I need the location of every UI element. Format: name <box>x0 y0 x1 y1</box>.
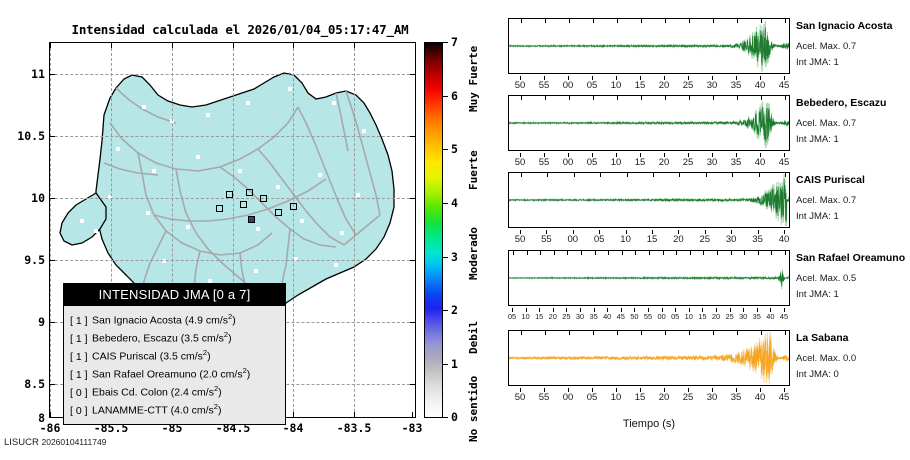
map-tick-top <box>172 43 173 48</box>
legend-accel: (4.0 cm/s <box>171 405 214 417</box>
plot-top-tick <box>785 251 786 255</box>
axis-tick-label: 40 <box>749 392 771 403</box>
axis-tick-label: 30 <box>701 157 723 168</box>
map-tick-left <box>50 384 55 385</box>
map-gridline-horizontal <box>50 260 415 261</box>
plot-top-tick <box>595 251 596 255</box>
axis-tick-label: 05 <box>581 80 603 91</box>
plot-top-tick <box>617 96 618 100</box>
plot-top-tick <box>744 251 745 255</box>
waveform-axis: 5055000510152025303540 <box>508 230 790 248</box>
legend-station: Ebais Cd. Colon <box>92 387 168 399</box>
legend-row: [ 1 ]Bebedero, Escazu (3.5 cm/s2) <box>70 328 280 346</box>
plot-top-tick <box>732 173 733 177</box>
map-tick-top <box>354 43 355 48</box>
colorbar-value: 6 <box>451 89 458 103</box>
lon-tick-label: -83 <box>384 421 440 435</box>
map-tick-right <box>410 74 415 75</box>
map-tick-right <box>410 198 415 199</box>
legend-row: [ 1 ]San Rafael Oreamuno (2.0 cm/s2) <box>70 364 280 382</box>
colorbar-tick <box>443 257 448 258</box>
plot-top-tick <box>737 19 738 23</box>
plot-top-tick <box>540 251 541 255</box>
lat-tick-label: 9 <box>38 315 45 329</box>
axis-tick-label: 45 <box>773 392 795 403</box>
plot-top-tick <box>617 331 618 335</box>
plot-top-tick <box>545 331 546 335</box>
plot-top-tick <box>759 173 760 177</box>
map-tick-bottom <box>50 412 51 417</box>
plot-top-tick <box>703 251 704 255</box>
map-gridline-horizontal <box>50 74 415 75</box>
axis-tick-label: 10 <box>605 157 627 168</box>
plot-top-tick <box>608 251 609 255</box>
colorbar-value: 1 <box>451 357 458 371</box>
colorbar-value: 4 <box>451 196 458 210</box>
colorbar-value: 5 <box>451 142 458 156</box>
plot-top-tick <box>713 19 714 23</box>
legend-accel: (2.4 cm/s <box>171 387 214 399</box>
legend-accel: (3.5 cm/s <box>181 333 224 345</box>
plot-top-tick <box>737 331 738 335</box>
station-name[interactable]: Bebedero, Escazu <box>796 97 886 109</box>
plot-top-tick <box>574 173 575 177</box>
plot-top-tick <box>569 331 570 335</box>
station-intensity: Int JMA: 1 <box>796 134 839 145</box>
waveform-plot[interactable] <box>508 330 790 386</box>
axis-tick-label: 40 <box>773 234 795 245</box>
source-code: 20260104111749 <box>41 437 106 447</box>
axis-tick-label: 35 <box>725 80 747 91</box>
plot-top-tick <box>706 173 707 177</box>
map-panel: Intensidad calculada el 2026/01/04_05:17… <box>0 0 500 460</box>
map-tick-left <box>50 322 55 323</box>
legend-intensity: [ 1 ] <box>70 315 92 329</box>
plot-top-tick <box>641 96 642 100</box>
legend-paren: ) <box>207 351 211 363</box>
plot-top-tick <box>653 173 654 177</box>
plot-top-tick <box>758 251 759 255</box>
plot-top-tick <box>593 331 594 335</box>
waveform-plot[interactable] <box>508 18 790 74</box>
axis-tick-label: 45 <box>773 157 795 168</box>
axis-tick-label: 45 <box>773 312 795 321</box>
axis-tick-label: 25 <box>677 80 699 91</box>
map-tick-right <box>410 384 415 385</box>
plot-top-tick <box>513 251 514 255</box>
station-intensity: Int JMA: 1 <box>796 289 839 300</box>
plot-top-tick <box>679 173 680 177</box>
colorbar-value: 3 <box>451 250 458 264</box>
plot-top-tick <box>665 19 666 23</box>
axis-tick-label: 15 <box>641 234 663 245</box>
axis-tick-label: 45 <box>773 80 795 91</box>
axis-tick-label: 20 <box>653 157 675 168</box>
plot-top-tick <box>689 96 690 100</box>
waveform-plot[interactable] <box>508 250 790 306</box>
lat-tick-label: 10.5 <box>17 129 45 143</box>
plot-top-tick <box>554 251 555 255</box>
station-accel: Acel. Max. 0.5 <box>796 273 856 284</box>
legend-intensity: [ 1 ] <box>70 333 92 347</box>
axis-tick-label: 50 <box>509 234 531 245</box>
colorbar-gradient <box>424 42 443 418</box>
lat-tick-label: 11 <box>31 67 45 81</box>
axis-tick-label: 15 <box>629 80 651 91</box>
axis-tick-label: 20 <box>653 80 675 91</box>
axis-tick-label: 25 <box>677 157 699 168</box>
axis-tick-label: 50 <box>509 80 531 91</box>
legend-list: [ 1 ]San Ignacio Acosta (4.9 cm/s2) [ 1 … <box>64 306 285 424</box>
legend-row: [ 0 ]LANAMME-CTT (4.0 cm/s2) <box>70 400 280 418</box>
legend-accel: (4.9 cm/s <box>185 315 228 327</box>
station-intensity: Int JMA: 0 <box>796 369 839 380</box>
plot-top-tick <box>690 251 691 255</box>
plot-top-tick <box>547 173 548 177</box>
legend-station: LANAMME-CTT <box>92 405 168 417</box>
colorbar-category: Muy Fuerte <box>467 46 480 112</box>
axis-tick-label: 40 <box>749 80 771 91</box>
waveform-axis: 505500051015202530354045 <box>508 153 790 171</box>
map-gridline-vertical <box>50 43 51 417</box>
plot-top-tick <box>569 19 570 23</box>
lat-tick-label: 10 <box>31 191 45 205</box>
waveform-axis: 505500051015202530354045 <box>508 76 790 94</box>
map-gridline-horizontal <box>50 136 415 137</box>
plot-top-tick <box>689 331 690 335</box>
plot-top-tick <box>771 251 772 255</box>
station-name[interactable]: San Rafael Oreamuno <box>796 252 905 264</box>
waveform-trace <box>509 251 789 305</box>
station-marker[interactable] <box>226 191 233 198</box>
map-tick-right <box>410 322 415 323</box>
legend-accel: (3.5 cm/s <box>160 351 203 363</box>
axis-tick-label: 30 <box>720 234 742 245</box>
plot-top-tick <box>521 19 522 23</box>
plot-top-tick <box>600 173 601 177</box>
intensity-colorbar: 7 6 5 4 3 2 1 0 Muy Fuerte Fuerte Modera… <box>424 42 494 418</box>
axis-tick-label: 40 <box>749 157 771 168</box>
map-tick-bottom <box>412 412 413 417</box>
legend-accel: (2.0 cm/s <box>199 369 242 381</box>
colorbar-value: 2 <box>451 303 458 317</box>
map-tick-top <box>50 43 51 48</box>
intensity-legend: INTENSIDAD JMA [0 a 7] [ 1 ]San Ignacio … <box>63 283 286 425</box>
station-marker[interactable] <box>275 209 282 216</box>
plot-top-tick <box>649 251 650 255</box>
map-tick-left <box>50 136 55 137</box>
colorbar-category: No sentido <box>467 376 480 442</box>
plot-top-tick <box>761 96 762 100</box>
source-tag: LISUCR 20260104111749 <box>4 437 106 448</box>
plot-top-tick <box>622 251 623 255</box>
plot-top-tick <box>641 19 642 23</box>
map-tick-top <box>111 43 112 48</box>
axis-tick-label: 10 <box>605 392 627 403</box>
plot-top-tick <box>567 251 568 255</box>
axis-tick-label: 35 <box>725 157 747 168</box>
legend-row: [ 0 ]Ebais Cd. Colon (2.4 cm/s2) <box>70 382 280 400</box>
colorbar-tick <box>443 310 448 311</box>
station-accel: Acel. Max. 0.7 <box>796 195 856 206</box>
plot-top-tick <box>641 331 642 335</box>
plot-top-tick <box>713 331 714 335</box>
map-tick-left <box>50 260 55 261</box>
map-tick-top <box>293 43 294 48</box>
legend-intensity: [ 1 ] <box>70 351 92 365</box>
colorbar-tick <box>443 96 448 97</box>
axis-tick-label: 55 <box>533 392 555 403</box>
axis-tick-label: 55 <box>533 80 555 91</box>
axis-tick-label: 50 <box>509 157 531 168</box>
plot-top-tick <box>521 331 522 335</box>
axis-tick-label: 25 <box>677 392 699 403</box>
waveform-panels: 505500051015202530354045 San Ignacio Aco… <box>500 0 910 460</box>
colorbar-tick <box>443 417 448 418</box>
axis-tick-label: 20 <box>667 234 689 245</box>
axis-tick-label: 55 <box>533 157 555 168</box>
station-accel: Acel. Max. 0.7 <box>796 41 856 52</box>
axis-tick-label: 15 <box>629 157 651 168</box>
station-accel: Acel. Max. 0.0 <box>796 353 856 364</box>
plot-top-tick <box>717 251 718 255</box>
legend-station: San Rafael Oreamuno <box>92 369 196 381</box>
waveform-axis: 505500051015202530354045 <box>508 388 790 406</box>
map-tick-right <box>410 136 415 137</box>
colorbar-tick <box>443 149 448 150</box>
axis-tick-label: 00 <box>557 80 579 91</box>
plot-top-tick <box>731 251 732 255</box>
legend-intensity: [ 1 ] <box>70 369 92 383</box>
colorbar-category: Moderado <box>467 227 480 280</box>
station-marker-active[interactable] <box>248 216 255 223</box>
plot-top-tick <box>617 19 618 23</box>
legend-station: CAIS Puriscal <box>92 351 157 363</box>
axis-tick-label: 05 <box>581 157 603 168</box>
station-marker[interactable] <box>240 201 247 208</box>
map-tick-top <box>233 43 234 48</box>
plot-top-tick <box>527 251 528 255</box>
lon-tick-label: -83.5 <box>326 421 382 435</box>
axis-tick-label: 05 <box>581 392 603 403</box>
plot-top-tick <box>665 96 666 100</box>
plot-top-tick <box>581 251 582 255</box>
plot-top-tick <box>713 96 714 100</box>
plot-top-tick <box>521 173 522 177</box>
waveform-trace <box>509 19 789 73</box>
colorbar-category: Fuerte <box>467 150 480 190</box>
station-marker[interactable] <box>260 195 267 202</box>
map-tick-left <box>50 74 55 75</box>
plot-top-tick <box>663 251 664 255</box>
colorbar-value: 0 <box>451 410 458 424</box>
map-tick-right <box>410 260 415 261</box>
plot-top-tick <box>593 96 594 100</box>
plot-top-tick <box>545 19 546 23</box>
colorbar-tick <box>443 364 448 365</box>
lat-tick-label: 8.5 <box>24 377 45 391</box>
station-name[interactable]: San Ignacio Acosta <box>796 20 892 32</box>
plot-top-tick <box>665 331 666 335</box>
plot-top-tick <box>627 173 628 177</box>
axis-tick-label: 50 <box>509 392 531 403</box>
map-tick-bottom <box>293 412 294 417</box>
map-tick-bottom <box>354 412 355 417</box>
colorbar-tick <box>443 42 448 43</box>
plot-top-tick <box>761 19 762 23</box>
legend-paren: ) <box>247 369 251 381</box>
legend-paren: ) <box>218 387 222 399</box>
axis-tick-label: 10 <box>605 80 627 91</box>
station-accel: Acel. Max. 0.7 <box>796 118 856 129</box>
waveform-trace <box>509 173 789 227</box>
axis-tick-label: 00 <box>562 234 584 245</box>
axis-tick-label: 30 <box>701 80 723 91</box>
map-gridline-vertical <box>293 43 294 417</box>
legend-row: [ 1 ]CAIS Puriscal (3.5 cm/s2) <box>70 346 280 364</box>
map-title: Intensidad calculada el 2026/01/04_05:17… <box>60 22 420 37</box>
axis-tick-label: 00 <box>557 392 579 403</box>
legend-paren: ) <box>232 315 236 327</box>
axis-tick-label: 55 <box>535 234 557 245</box>
waveform-trace <box>509 331 789 385</box>
axis-tick-label: 15 <box>629 392 651 403</box>
axis-tick-label: 20 <box>653 392 675 403</box>
legend-title: INTENSIDAD JMA [0 a 7] <box>64 284 285 306</box>
legend-paren: ) <box>228 333 232 345</box>
plot-top-tick <box>593 19 594 23</box>
plot-top-tick <box>676 251 677 255</box>
seismic-intensity-report: Intensidad calculada el 2026/01/04_05:17… <box>0 0 910 460</box>
axis-tick-label: 05 <box>588 234 610 245</box>
axis-tick-label: 30 <box>701 392 723 403</box>
legend-station: San Ignacio Acosta <box>92 315 182 327</box>
plot-top-tick <box>761 331 762 335</box>
legend-station: Bebedero, Escazu <box>92 333 178 345</box>
station-name[interactable]: CAIS Puriscal <box>796 174 865 186</box>
legend-paren: ) <box>218 405 222 417</box>
station-marker[interactable] <box>216 205 223 212</box>
waveform-trace <box>509 96 789 150</box>
station-intensity: Int JMA: 1 <box>796 57 839 68</box>
legend-intensity: [ 0 ] <box>70 405 92 419</box>
map-tick-left <box>50 198 55 199</box>
plot-top-tick <box>785 96 786 100</box>
plot-top-tick <box>737 96 738 100</box>
plot-top-tick <box>521 96 522 100</box>
plot-top-tick <box>785 331 786 335</box>
colorbar-value: 7 <box>451 35 458 49</box>
waveform-plot[interactable] <box>508 95 790 151</box>
plot-top-tick <box>689 19 690 23</box>
source-prefix: LISUCR <box>4 437 39 448</box>
axis-tick-label: 25 <box>694 234 716 245</box>
map-gridline-horizontal <box>50 198 415 199</box>
legend-intensity: [ 0 ] <box>70 387 92 401</box>
station-intensity: Int JMA: 1 <box>796 211 839 222</box>
waveform-axis: 0510152025303540455055000510152025303540… <box>508 308 790 326</box>
plot-top-tick <box>785 173 786 177</box>
plot-top-tick <box>785 19 786 23</box>
colorbar-tick <box>443 203 448 204</box>
axis-tick-label: 00 <box>557 157 579 168</box>
time-axis-label: Tiempo (s) <box>508 418 790 430</box>
waveform-plot[interactable] <box>508 172 790 228</box>
axis-tick-label: 35 <box>725 392 747 403</box>
plot-top-tick <box>545 96 546 100</box>
station-name[interactable]: La Sabana <box>796 332 849 344</box>
plot-top-tick <box>569 96 570 100</box>
legend-row: [ 1 ]San Ignacio Acosta (4.9 cm/s2) <box>70 310 280 328</box>
station-marker[interactable] <box>290 203 297 210</box>
axis-tick-label: 35 <box>747 234 769 245</box>
plot-top-tick <box>635 251 636 255</box>
map-gridline-vertical <box>354 43 355 417</box>
colorbar-category: Debil <box>467 321 480 354</box>
station-marker[interactable] <box>246 189 253 196</box>
axis-tick-label: 10 <box>615 234 637 245</box>
lat-tick-label: 9.5 <box>24 253 45 267</box>
